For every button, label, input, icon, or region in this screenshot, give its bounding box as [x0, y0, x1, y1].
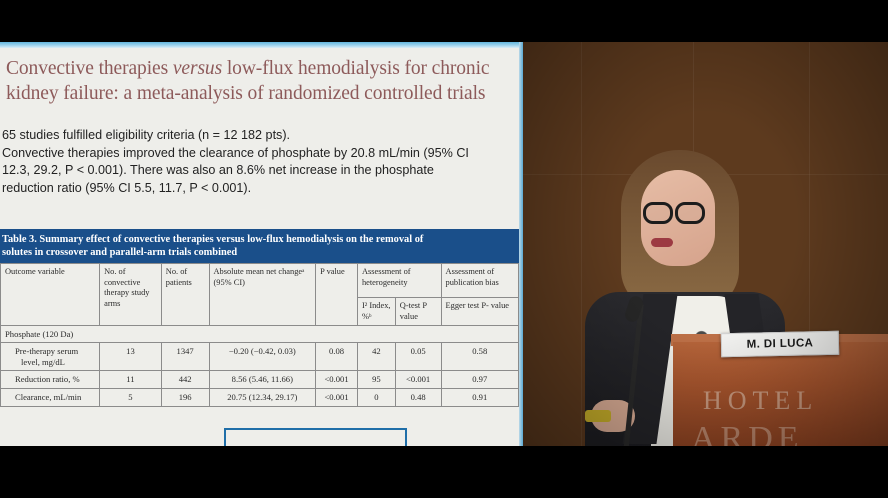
row-label-line1: Pre-therapy serum [15, 346, 78, 356]
presenter-remote [585, 410, 611, 422]
cell-q-test: <0.001 [395, 371, 441, 389]
cell-arms: 5 [100, 389, 162, 407]
table-row: Clearance, mL/min 5 196 20.75 (12.34, 29… [1, 389, 519, 407]
cell-change: 8.56 (5.46, 11.66) [209, 371, 316, 389]
speaker-name-text: M. DI LUCA [722, 332, 838, 357]
slide-body-text: 65 studies fulfilled eligibility criteri… [2, 127, 518, 197]
row-label-reduction-ratio: Reduction ratio, % [1, 371, 100, 389]
header-no-of-arms: No. of convective therapy study arms [100, 264, 162, 326]
header-outcome-variable: Outcome variable [1, 264, 100, 326]
cell-q-test: 0.05 [395, 343, 441, 371]
slide-body-line-1: 65 studies fulfilled eligibility criteri… [2, 127, 518, 145]
cell-patients: 1347 [161, 343, 209, 371]
cell-arms: 11 [100, 371, 162, 389]
cell-i2: 95 [357, 371, 395, 389]
summary-effect-table: Outcome variable No. of convective thera… [0, 263, 519, 406]
slide-body-line-2: Convective therapies improved the cleara… [2, 145, 518, 163]
header-no-of-patients: No. of patients [161, 264, 209, 326]
cell-egger: 0.97 [441, 371, 518, 389]
table-row: Reduction ratio, % 11 442 8.56 (5.46, 11… [1, 371, 519, 389]
podium-logo-word2: ARDE [691, 420, 804, 446]
cell-arms: 13 [100, 343, 162, 371]
row-label-line2: level, mg/dL [15, 357, 65, 368]
table-caption: Table 3. Summary effect of convective th… [0, 229, 519, 263]
slide-title: Convective therapies versus low-flux hem… [6, 56, 518, 106]
table-caption-line2: solutes in crossover and parallel-arm tr… [2, 246, 515, 259]
slide-title-line1-part2: low-flux hemodialysis for chronic [222, 58, 489, 79]
slide-body-line-3: 12.3, 29.2, P < 0.001). There was also a… [2, 162, 518, 180]
table-header-row-top: Outcome variable No. of convective thera… [1, 264, 519, 298]
header-assessment-publication-bias: Assessment of publication bias [441, 264, 518, 298]
letterbox-top-bar [0, 0, 888, 42]
wall-panel-seam [581, 42, 582, 446]
header-assessment-heterogeneity: Assessment of heterogeneity [357, 264, 441, 298]
cell-change: 20.75 (12.34, 29.17) [209, 389, 316, 407]
group-label-phosphate: Phosphate (120 Da) [1, 326, 519, 343]
speaker-nameplate: M. DI LUCA [721, 331, 839, 357]
video-frame: Convective therapies versus low-flux hem… [0, 42, 888, 446]
speaker-camera-view: HOTEL ARDE M. DI LUCA [523, 42, 888, 446]
header-absolute-mean-net-change: Absolute mean net changeᵃ (95% CI) [209, 264, 316, 326]
header-egger-test-p-value: Egger test P- value [441, 298, 518, 326]
header-q-test-p-value: Q-test P value [395, 298, 441, 326]
slide-body-line-4: reduction ratio (95% CI 5.5, 11.7, P < 0… [2, 180, 518, 198]
row-label-clearance: Clearance, mL/min [1, 389, 100, 407]
letterbox-bottom-bar [0, 446, 888, 498]
header-p-value: P value [316, 264, 358, 326]
cell-i2: 0 [357, 389, 395, 407]
podium-logo-word1: HOTEL [703, 386, 818, 416]
cell-p-value: <0.001 [316, 389, 358, 407]
highlight-box [224, 428, 407, 446]
cell-change: −0.20 (−0.42, 0.03) [209, 343, 316, 371]
eyeglasses-left-lens-icon [643, 202, 673, 224]
cell-egger: 0.58 [441, 343, 518, 371]
cell-patients: 442 [161, 371, 209, 389]
slide-title-line2: kidney failure: a meta-analysis of rando… [6, 83, 485, 104]
cell-patients: 196 [161, 389, 209, 407]
table-row: Pre-therapy serum level, mg/dL 13 1347 −… [1, 343, 519, 371]
cell-i2: 42 [357, 343, 395, 371]
eyeglasses-right-lens-icon [675, 202, 705, 224]
slide-title-versus-italic: versus [173, 58, 222, 79]
presentation-slide: Convective therapies versus low-flux hem… [0, 42, 523, 446]
table-caption-line1: Table 3. Summary effect of convective th… [2, 233, 515, 246]
cell-egger: 0.91 [441, 389, 518, 407]
speaker-lips [651, 238, 673, 247]
row-label-pre-therapy-serum: Pre-therapy serum level, mg/dL [1, 343, 100, 371]
cell-p-value: 0.08 [316, 343, 358, 371]
cell-q-test: 0.48 [395, 389, 441, 407]
table-group-row-phosphate: Phosphate (120 Da) [1, 326, 519, 343]
slide-top-accent-strip [0, 42, 523, 48]
header-i2-index: I² Index, %ᵇ [357, 298, 395, 326]
slide-title-line1-part1: Convective therapies [6, 58, 173, 79]
video-player-stage: Convective therapies versus low-flux hem… [0, 0, 888, 498]
results-table-block: Table 3. Summary effect of convective th… [0, 229, 519, 407]
cell-p-value: <0.001 [316, 371, 358, 389]
